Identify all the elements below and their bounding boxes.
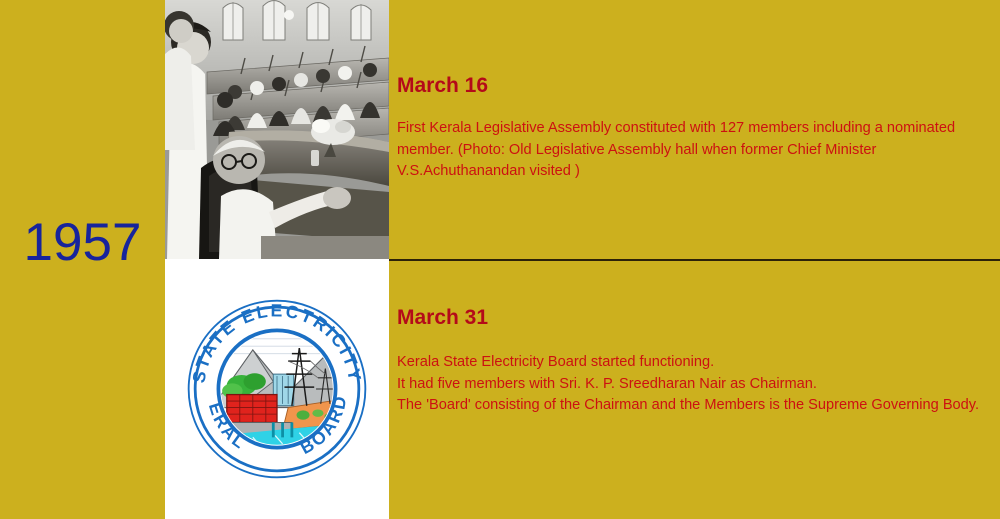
kseb-emblem: STATE ELECTRICITY KERALA BOARD	[165, 259, 389, 519]
media-column: STATE ELECTRICITY KERALA BOARD	[165, 0, 389, 519]
entry-heading: March 31	[397, 306, 986, 330]
entry-heading: March 16	[397, 74, 986, 98]
legislative-assembly-photo	[165, 0, 389, 259]
entry-body: Kerala State Electricity Board started f…	[397, 352, 986, 417]
legislative-assembly-photo-graphic	[165, 0, 389, 259]
kseb-emblem-graphic: STATE ELECTRICITY KERALA BOARD	[184, 296, 370, 482]
timeline-slide: 1957	[0, 0, 1000, 519]
year-label: 1957	[0, 214, 165, 272]
entry-body: First Kerala Legislative Assembly consti…	[397, 118, 986, 183]
entry-divider	[389, 259, 1000, 261]
year-column: 1957	[0, 0, 165, 519]
timeline-entry-march-31: March 31 Kerala State Electricity Board …	[389, 260, 1000, 519]
timeline-entry-march-16: March 16 First Kerala Legislative Assemb…	[389, 0, 1000, 259]
